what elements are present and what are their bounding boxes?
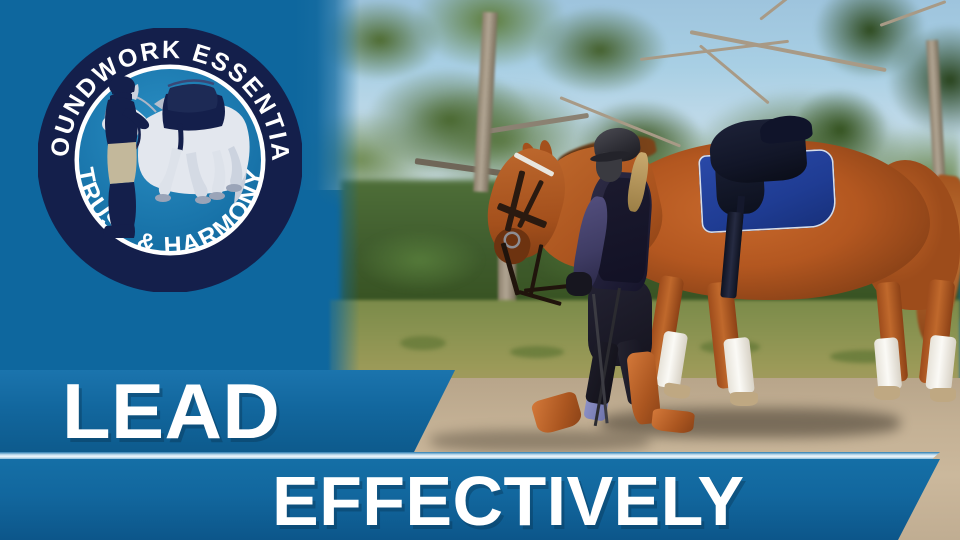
horse-hoof [874,386,900,400]
cast-shadow [430,430,650,452]
grass-tuft [400,336,446,350]
bit-ring [506,234,518,246]
headline-line-1: LEAD [62,369,280,453]
horse-hoof [930,388,956,402]
horse-leg-wrap [874,337,902,391]
headline-line-2: EFFECTIVELY [272,461,744,540]
horse-hoof [730,392,758,406]
logo-badge: GROUNDWORK ESSENTIALS TRUST & HARMONY [38,28,302,292]
thumbnail-canvas: GROUNDWORK ESSENTIALS TRUST & HARMONY [0,0,960,540]
handler-glove [566,272,592,296]
grass-tuft [510,346,564,358]
